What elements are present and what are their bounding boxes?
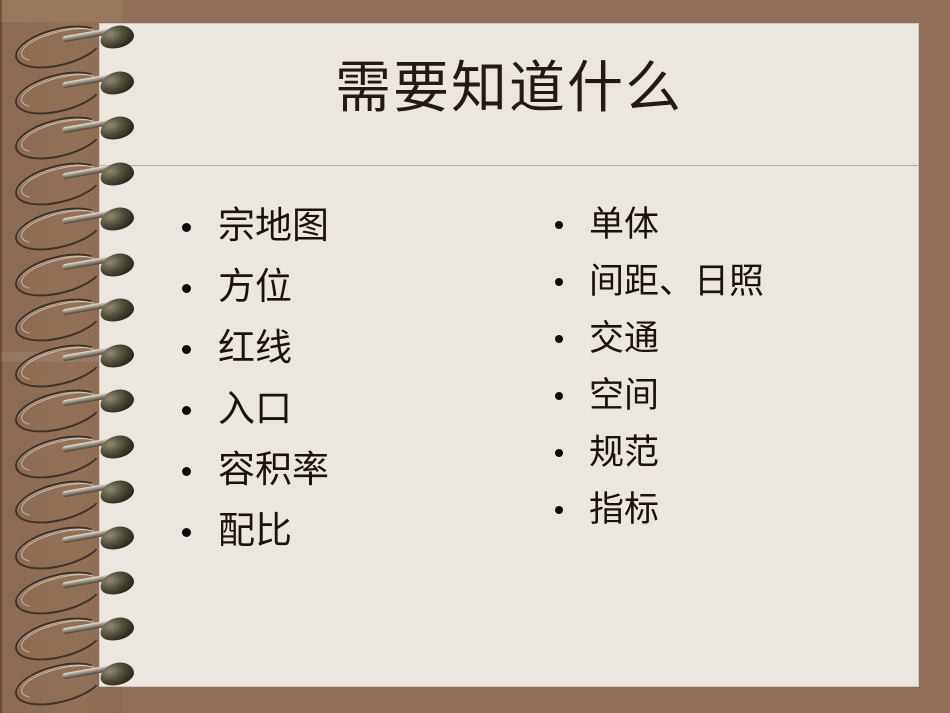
list-item-label: 单体 bbox=[589, 205, 659, 244]
list-item: 容积率 bbox=[174, 440, 524, 501]
bullet-dot-icon bbox=[555, 221, 563, 229]
presentation-slide: 需要知道什么 宗地图 方位 红线 bbox=[0, 0, 950, 713]
title-divider bbox=[100, 165, 918, 166]
bullet-dot-icon bbox=[182, 223, 191, 232]
slide-page: 需要知道什么 宗地图 方位 红线 bbox=[100, 24, 918, 686]
bullet-dot-icon bbox=[182, 345, 191, 354]
bullet-dot-icon bbox=[555, 335, 563, 343]
list-item-label: 容积率 bbox=[218, 450, 329, 491]
bullet-column-right: 单体 间距、日照 交通 空间 bbox=[547, 196, 907, 538]
list-item-label: 空间 bbox=[589, 376, 659, 415]
bullet-dot-icon bbox=[182, 528, 191, 537]
list-item: 规范 bbox=[547, 424, 907, 481]
list-item: 入口 bbox=[174, 379, 524, 440]
list-item: 红线 bbox=[174, 318, 524, 379]
list-item-label: 入口 bbox=[218, 389, 292, 430]
bullet-dot-icon bbox=[182, 467, 191, 476]
list-item-label: 指标 bbox=[589, 490, 659, 529]
left-edge-line bbox=[0, 0, 2, 713]
list-item: 宗地图 bbox=[174, 196, 524, 257]
bullet-dot-icon bbox=[182, 284, 191, 293]
frame-corner-patch bbox=[0, 0, 122, 22]
slide-body: 宗地图 方位 红线 入口 bbox=[100, 196, 918, 666]
list-item: 交通 bbox=[547, 310, 907, 367]
bullet-list-right: 单体 间距、日照 交通 空间 bbox=[547, 196, 907, 538]
list-item: 方位 bbox=[174, 257, 524, 318]
bullet-dot-icon bbox=[555, 449, 563, 457]
bullet-column-left: 宗地图 方位 红线 入口 bbox=[174, 196, 524, 562]
bullet-dot-icon bbox=[555, 392, 563, 400]
list-item: 指标 bbox=[547, 481, 907, 538]
list-item-label: 规范 bbox=[589, 433, 659, 472]
list-item-label: 配比 bbox=[218, 511, 292, 552]
bullet-list-left: 宗地图 方位 红线 入口 bbox=[174, 196, 524, 562]
list-item-label: 方位 bbox=[218, 267, 292, 308]
list-item-label: 宗地图 bbox=[218, 206, 329, 247]
list-item-label: 间距、日照 bbox=[589, 262, 764, 301]
list-item: 配比 bbox=[174, 501, 524, 562]
page-title: 需要知道什么 bbox=[100, 56, 918, 122]
bullet-dot-icon bbox=[555, 278, 563, 286]
bullet-dot-icon bbox=[182, 406, 191, 415]
list-item: 单体 bbox=[547, 196, 907, 253]
bullet-dot-icon bbox=[555, 506, 563, 514]
list-item-label: 交通 bbox=[589, 319, 659, 358]
list-item-label: 红线 bbox=[218, 328, 292, 369]
list-item: 空间 bbox=[547, 367, 907, 424]
list-item: 间距、日照 bbox=[547, 253, 907, 310]
